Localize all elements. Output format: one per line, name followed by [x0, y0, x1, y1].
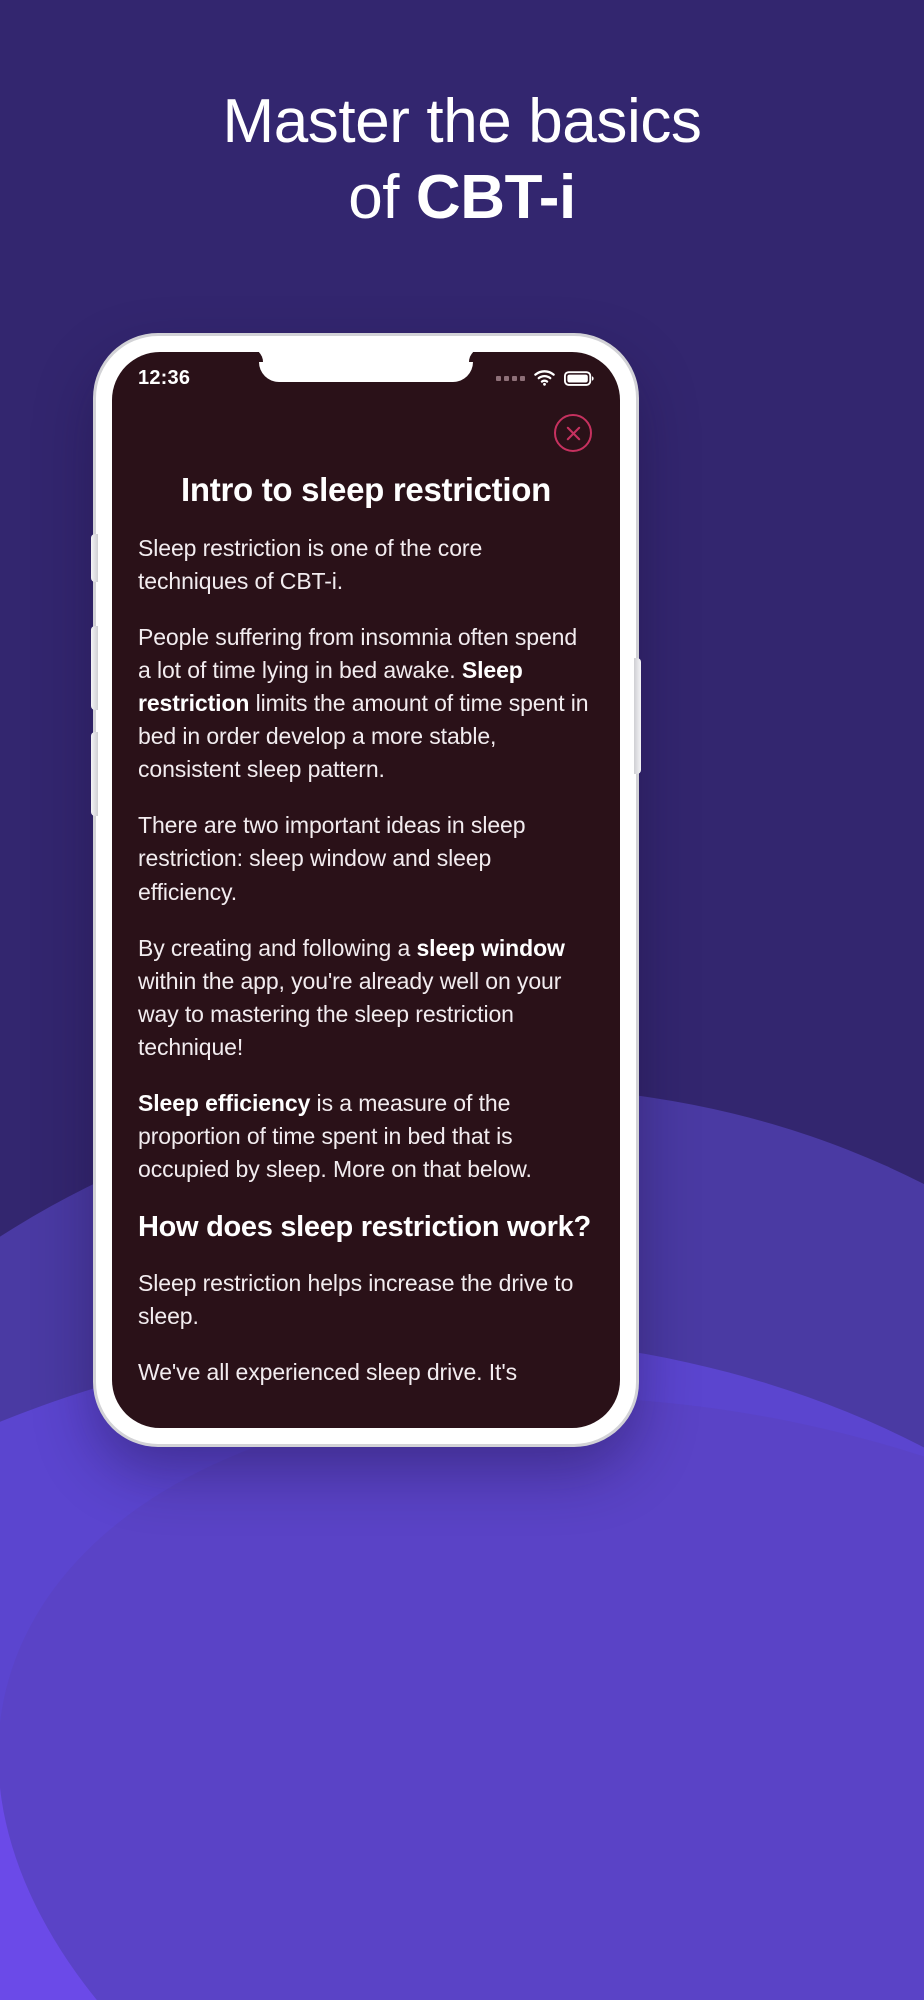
wifi-icon	[534, 370, 555, 386]
paragraph: Sleep restriction helps increase the dri…	[138, 1267, 594, 1333]
paragraph: Sleep efficiency is a measure of the pro…	[138, 1087, 594, 1186]
status-bar-time: 12:36	[138, 367, 190, 390]
article-paragraphs-after: Sleep restriction helps increase the dri…	[138, 1267, 594, 1389]
paragraph: People suffering from insomnia often spe…	[138, 621, 594, 787]
paragraph: By creating and following a sleep window…	[138, 932, 594, 1064]
paragraph: There are two important ideas in sleep r…	[138, 809, 594, 908]
close-button-row	[138, 408, 594, 466]
headline-line-1: Master the basics	[60, 84, 864, 160]
phone-frame: 12:36	[96, 336, 636, 1444]
headline-line-2: of CBT-i	[60, 160, 864, 236]
volume-down-button[interactable]	[91, 732, 98, 816]
paragraph: Sleep restriction is one of the core tec…	[138, 532, 594, 598]
status-bar-indicators	[496, 370, 594, 386]
phone-screen: 12:36	[112, 352, 620, 1428]
phone-notch	[259, 352, 473, 382]
promo-headline: Master the basics of CBT-i	[0, 84, 924, 237]
signal-dots-icon	[496, 376, 525, 381]
power-button[interactable]	[634, 658, 641, 774]
silent-switch[interactable]	[91, 534, 98, 582]
headline-line-2-prefix: of	[348, 163, 416, 232]
phone-mockup: 12:36	[96, 336, 636, 1444]
page-title: Intro to sleep restriction	[138, 470, 594, 510]
status-bar: 12:36	[112, 352, 620, 404]
section-heading: How does sleep restriction work?	[138, 1209, 594, 1246]
headline-line-2-strong: CBT-i	[416, 163, 576, 232]
article-scroll-area[interactable]: Intro to sleep restriction Sleep restric…	[112, 404, 620, 1428]
battery-full-icon	[564, 371, 594, 386]
volume-up-button[interactable]	[91, 626, 98, 710]
paragraph: We've all experienced sleep drive. It's	[138, 1356, 594, 1389]
article-paragraphs: Sleep restriction is one of the core tec…	[138, 532, 594, 1187]
close-circle-icon[interactable]	[554, 414, 592, 452]
